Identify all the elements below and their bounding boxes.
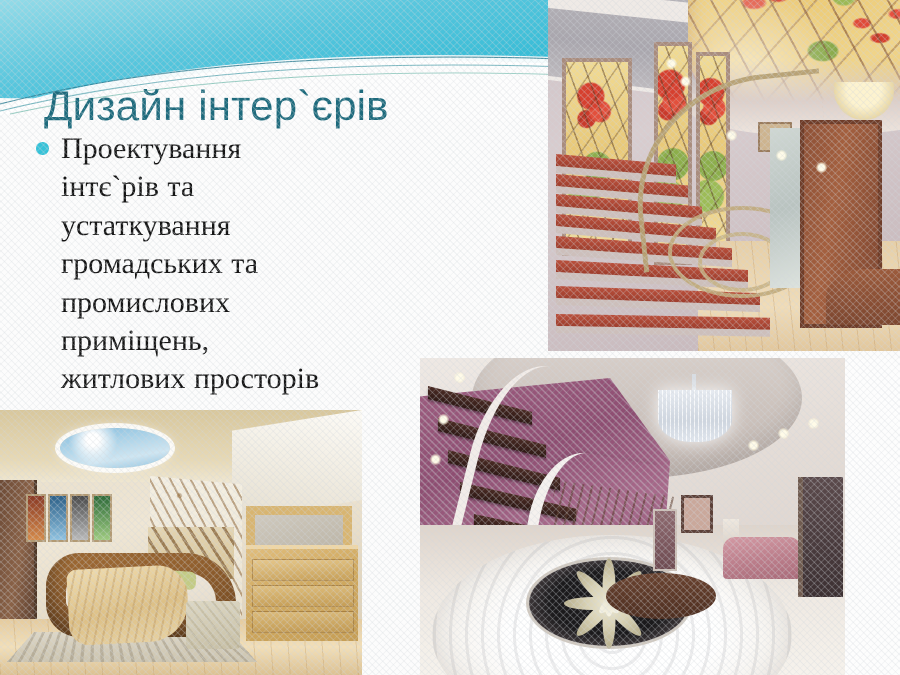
bullet-dot-icon bbox=[36, 142, 49, 155]
bullet-list: Проектування інтє`рів та устаткування гр… bbox=[36, 130, 336, 399]
page-title: Дизайн інтер`єрів bbox=[44, 82, 389, 130]
bullet-item-text: Проектування інтє`рів та устаткування гр… bbox=[61, 130, 336, 399]
image-bedroom-sky-ceiling-curved-bed bbox=[0, 410, 362, 675]
image-hall-purple-mosaic-floating-stairs bbox=[420, 358, 845, 675]
image-hallway-stained-glass-ceiling-staircase bbox=[548, 0, 900, 351]
slide-margin-right bbox=[845, 358, 900, 675]
presentation-slide: Дизайн інтер`єрів Проектування інтє`рів … bbox=[0, 0, 900, 675]
